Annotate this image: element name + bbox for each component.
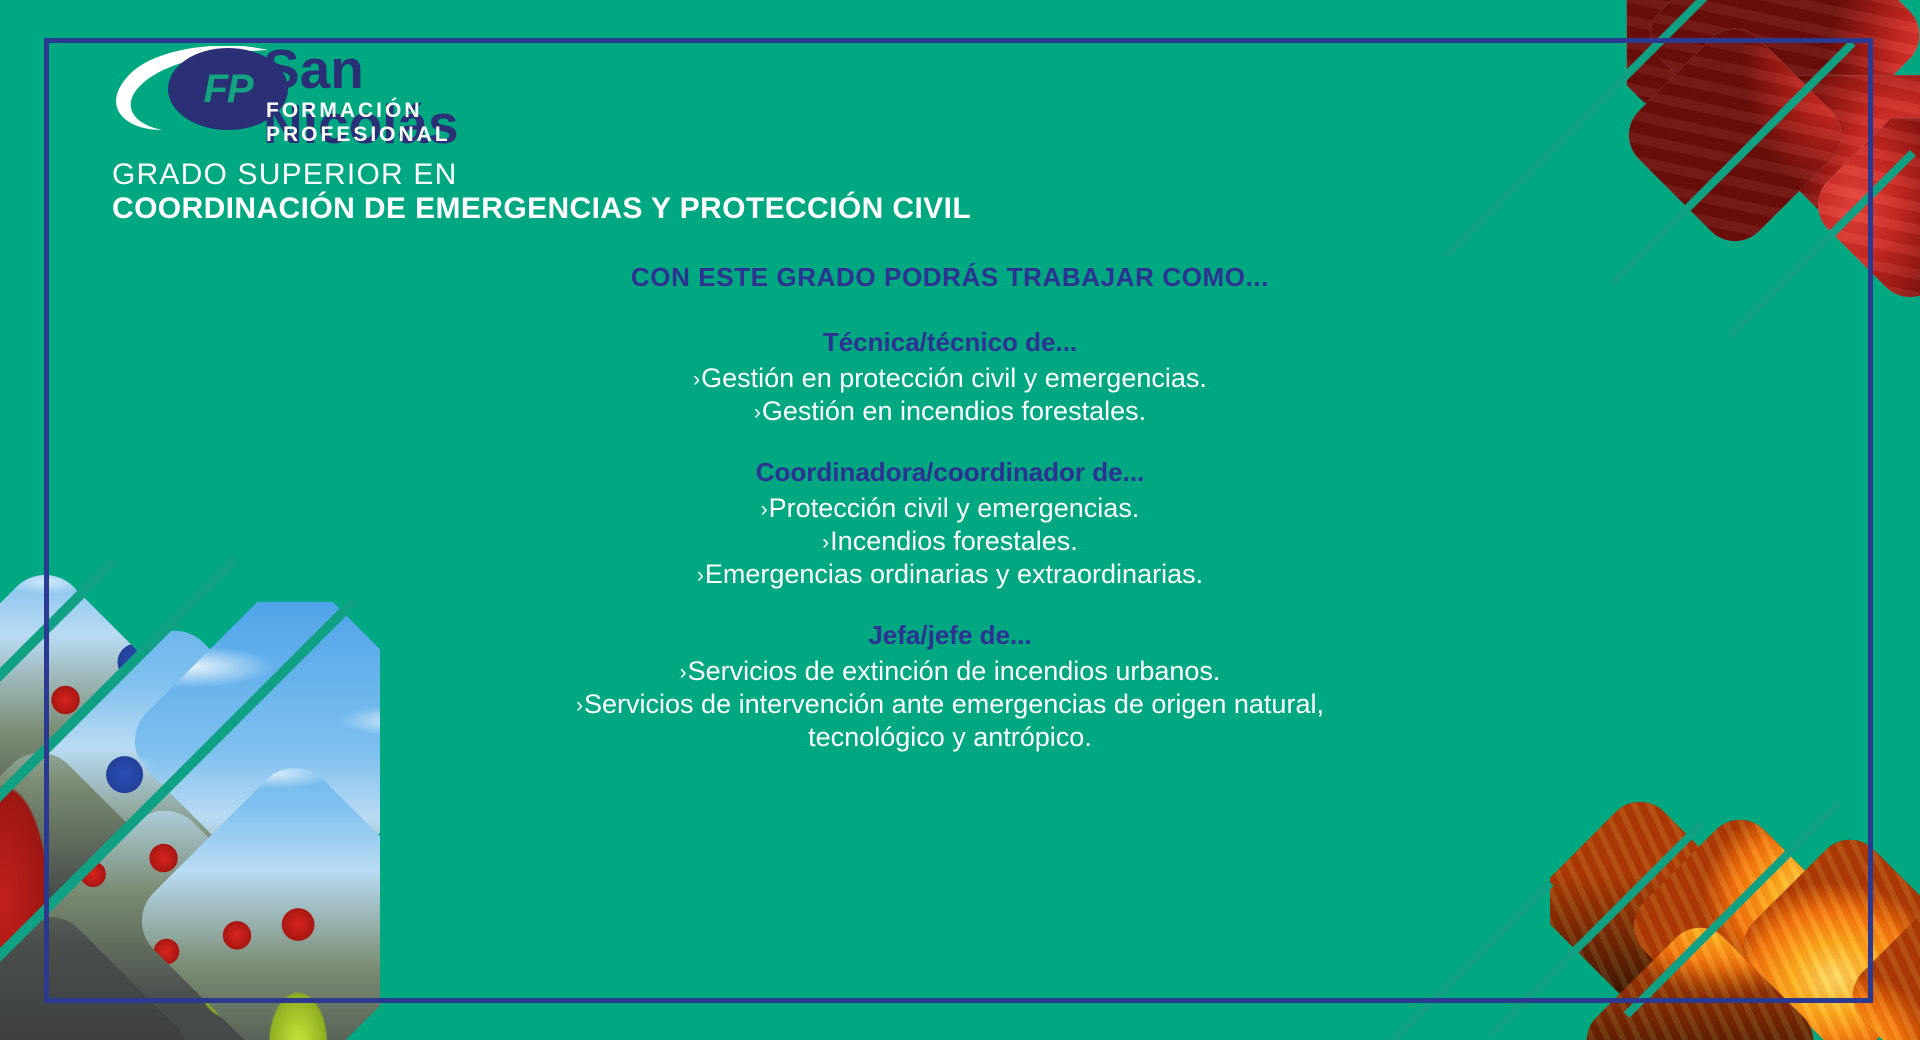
- career-bullet-label: Gestión en incendios forestales.: [762, 396, 1146, 426]
- chevron-right-icon: ›: [680, 661, 687, 684]
- career-bullet-label: Servicios de extinción de incendios urba…: [688, 656, 1221, 686]
- career-bullet: ›Gestión en incendios forestales.: [330, 395, 1570, 428]
- career-bullet: ›Gestión en protección civil y emergenci…: [330, 362, 1570, 395]
- career-bullet: ›Protección civil y emergencias.: [330, 492, 1570, 525]
- career-bullet: ›Emergencias ordinarias y extraordinaria…: [330, 558, 1570, 591]
- career-bullet-label: Protección civil y emergencias.: [769, 493, 1140, 523]
- course-kicker: GRADO SUPERIOR EN: [112, 158, 457, 192]
- career-group: Técnica/técnico de...›Gestión en protecc…: [330, 327, 1570, 427]
- logo: FP San Nicolás FORMACIÓN PROFESIONAL: [108, 44, 568, 132]
- career-outcomes-block: CON ESTE GRADO PODRÁS TRABAJAR COMO... T…: [330, 262, 1570, 783]
- career-group-title: Coordinadora/coordinador de...: [330, 457, 1570, 488]
- career-bullet-label: Servicios de intervención ante emergenci…: [584, 689, 1324, 752]
- career-bullet-label: Emergencias ordinarias y extraordinarias…: [705, 559, 1203, 589]
- career-group: Coordinadora/coordinador de...›Protecció…: [330, 457, 1570, 590]
- chevron-right-icon: ›: [693, 368, 700, 391]
- decor-stripe: [1378, 880, 1553, 1040]
- chevron-right-icon: ›: [754, 401, 761, 424]
- chevron-right-icon: ›: [761, 498, 768, 521]
- poster-canvas: FP San Nicolás FORMACIÓN PROFESIONAL GRA…: [0, 0, 1920, 1040]
- chevron-right-icon: ›: [697, 564, 704, 587]
- career-bullet-label: Gestión en protección civil y emergencia…: [701, 363, 1207, 393]
- career-group: Jefa/jefe de...›Servicios de extinción d…: [330, 620, 1570, 753]
- career-group-title: Técnica/técnico de...: [330, 327, 1570, 358]
- career-bullet-label: Incendios forestales.: [830, 526, 1078, 556]
- chevron-right-icon: ›: [576, 694, 583, 717]
- career-bullet: ›Servicios de intervención ante emergenc…: [330, 688, 1570, 753]
- career-group-title: Jefa/jefe de...: [330, 620, 1570, 651]
- logo-subtitle: FORMACIÓN PROFESIONAL: [266, 99, 568, 147]
- career-groups: Técnica/técnico de...›Gestión en protecc…: [330, 327, 1570, 753]
- course-title: COORDINACIÓN DE EMERGENCIAS Y PROTECCIÓN…: [112, 192, 971, 226]
- career-bullet: ›Servicios de extinción de incendios urb…: [330, 655, 1570, 688]
- career-bullet: ›Incendios forestales.: [330, 525, 1570, 558]
- section-heading: CON ESTE GRADO PODRÁS TRABAJAR COMO...: [330, 262, 1570, 293]
- chevron-right-icon: ›: [822, 531, 829, 554]
